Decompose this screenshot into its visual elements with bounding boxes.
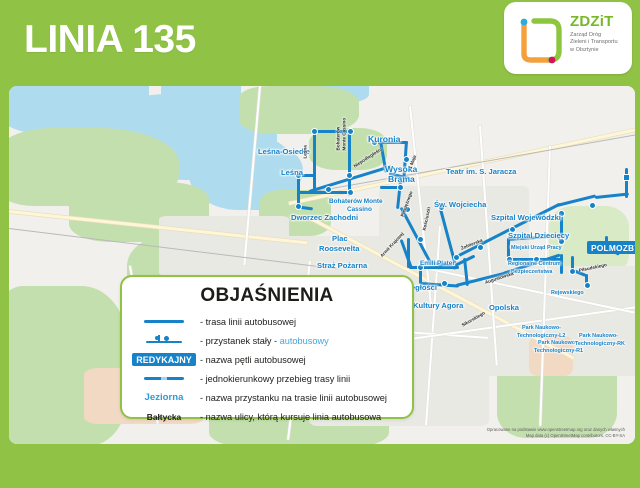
map-stop-label: Regionalne Centrum xyxy=(508,261,561,267)
legend-rows: - trasa linii autobusowej - przystanek s… xyxy=(122,312,412,426)
legend-row-label: - nazwa przystanku na trasie linii autob… xyxy=(200,393,387,403)
map-stop-label: Bohaterów Monte xyxy=(329,198,383,205)
legend-row-label: - przystanek stały - autobusowy xyxy=(200,336,329,346)
map-attribution: Opracowane na podstawie www.openstreetma… xyxy=(437,427,625,439)
map-stop-label: Technologiczny-R1 xyxy=(534,348,583,354)
legend-row-label: - trasa linii autobusowej xyxy=(200,317,296,327)
map-stop-label: Park Naukowo- xyxy=(579,333,618,339)
map-stop-label: Plac xyxy=(332,234,348,243)
street-name-icon: Bałtycka xyxy=(128,412,200,422)
map-street-label: Monte Cassino xyxy=(342,118,347,151)
legend-row-streetname: Bałtycka - nazwa ulicy, którą kursuje li… xyxy=(122,407,412,426)
map-stop-label: Brama xyxy=(388,174,415,184)
bus-stop-marker[interactable] xyxy=(417,236,424,243)
route-map[interactable]: POLMOZBYT Leśna-Osiedle Leśna Kuronia Wy… xyxy=(7,84,637,446)
bus-stop-marker[interactable] xyxy=(623,174,630,181)
map-stop-label: Park Naukowo- xyxy=(538,340,577,346)
terminus-label-polmozbyt: POLMOZBYT xyxy=(587,241,637,254)
bus-stop-marker[interactable] xyxy=(311,128,318,135)
map-stop-label: Św. Wojciecha xyxy=(434,200,486,209)
legend-row-loop: REDYKAJNY - nazwa pętli autobusowej xyxy=(122,350,412,369)
map-stop-label: Cassino xyxy=(347,206,372,213)
loop-tag-icon: REDYKAJNY xyxy=(128,353,200,366)
map-stop-label: Szpital Dziecięcy xyxy=(508,231,569,240)
map-stop-label: Park Naukowo- xyxy=(522,325,561,331)
bus-stop-marker[interactable] xyxy=(477,244,484,251)
route-segment xyxy=(625,168,628,198)
route-line-icon xyxy=(128,320,200,323)
stop-name-sample: Jeziorna xyxy=(145,392,184,403)
bus-stop-marker[interactable] xyxy=(441,280,448,287)
logo-name: ZDZiT xyxy=(570,14,630,30)
map-street-label: Leśna xyxy=(303,145,308,158)
map-stop-label: Dworzec Zachodni xyxy=(291,213,358,222)
map-stop-label: Technologiczny-RK xyxy=(575,341,625,347)
map-stop-label: Technologiczny-L2 xyxy=(517,333,565,339)
bus-stop-marker[interactable] xyxy=(347,128,354,135)
stop-name-icon: Jeziorna xyxy=(128,392,200,403)
map-stop-label: Emili Plater xyxy=(420,260,455,267)
zdzit-logo: ZDZiT Zarząd Dróg Zieleni i Transportu w… xyxy=(504,2,632,74)
route-segment xyxy=(313,130,316,192)
map-stop-label: Opolska xyxy=(489,303,519,312)
legend-row-oneway: - jednokierunkowy przebieg trasy linii xyxy=(122,369,412,388)
map-street-label: Bohaterów xyxy=(336,127,341,151)
street-name-sample: Bałtycka xyxy=(147,412,181,422)
bus-stop-marker[interactable] xyxy=(589,202,596,209)
bus-stop-marker[interactable] xyxy=(346,172,353,179)
map-stop-label: Miejski Urząd Pracy xyxy=(511,245,562,251)
loop-tag-sample: REDYKAJNY xyxy=(132,353,196,366)
attribution-line-2: Map data (c) OpenStreetMap contributors,… xyxy=(437,433,625,439)
bus-stop-marker[interactable] xyxy=(569,268,576,275)
bus-stop-marker[interactable] xyxy=(584,282,591,289)
map-water-north-arm xyxy=(161,84,241,116)
map-canvas: POLMOZBYT Leśna-Osiedle Leśna Kuronia Wy… xyxy=(9,86,635,444)
route-segment xyxy=(407,238,410,268)
bus-stop-marker[interactable] xyxy=(397,184,404,191)
bus-stop-marker[interactable] xyxy=(347,189,354,196)
map-stop-label: Szpital Wojewódzki xyxy=(491,213,561,222)
bus-line-poster: LINIA 135 ZDZiT Zarząd Dróg Zieleni i Tr… xyxy=(0,0,640,488)
bus-stop-icon xyxy=(128,335,200,347)
map-legend: OBJAŚNIENIA - trasa linii autobusowej - … xyxy=(120,275,414,419)
bus-stop-marker[interactable] xyxy=(325,186,332,193)
legend-row-label: - nazwa ulicy, którą kursuje linia autob… xyxy=(200,412,381,422)
legend-title: OBJAŚNIENIA xyxy=(122,285,412,307)
poster-header: LINIA 135 ZDZiT Zarząd Dróg Zieleni i Tr… xyxy=(0,0,640,84)
map-stop-label: Kuronia xyxy=(368,134,400,144)
legend-row-label: - jednokierunkowy przebieg trasy linii xyxy=(200,374,350,384)
logo-subtitle: Zarząd Dróg Zieleni i Transportu w Olszt… xyxy=(570,32,630,54)
bus-stop-marker[interactable] xyxy=(295,203,302,210)
map-stop-label: Straż Pożarna xyxy=(317,261,367,270)
route-segment xyxy=(348,130,351,196)
map-stop-label: Teatr im. S. Jaracza xyxy=(446,167,516,176)
legend-row-stop: - przystanek stały - autobusowy xyxy=(122,331,412,350)
page-title: LINIA 135 xyxy=(24,18,196,62)
one-way-line-icon xyxy=(128,377,200,380)
legend-row-route: - trasa linii autobusowej xyxy=(122,312,412,331)
legend-row-label: - nazwa pętli autobusowej xyxy=(200,355,306,365)
zdzit-logo-mark xyxy=(514,10,568,66)
legend-row-stopname: Jeziorna - nazwa przystanku na trasie li… xyxy=(122,388,412,407)
zdzit-logo-text: ZDZiT Zarząd Dróg Zieleni i Transportu w… xyxy=(570,14,630,54)
map-stop-label: Roosevelta xyxy=(319,244,360,253)
map-stop-label: Leśna xyxy=(281,168,303,177)
map-stop-label: Bezpieczeństwa xyxy=(511,269,552,275)
map-stop-label: Rejewskiego xyxy=(551,290,584,296)
